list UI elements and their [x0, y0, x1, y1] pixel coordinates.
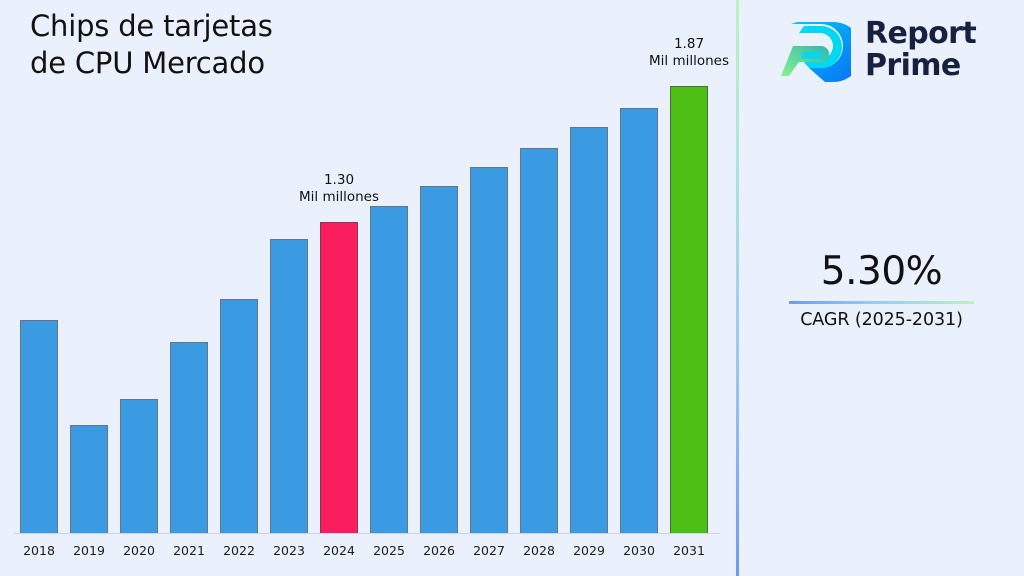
bar-group-2020[interactable]: 2020 [120, 43, 158, 533]
x-tick-label-2018: 2018 [20, 533, 58, 558]
bar-group-2028[interactable]: 2028 [520, 43, 558, 533]
x-tick-label-2029: 2029 [570, 533, 608, 558]
x-tick-label-2022: 2022 [220, 533, 258, 558]
bar-group-2025[interactable]: 2025 [370, 43, 408, 533]
bar-2031[interactable] [670, 86, 708, 533]
x-tick-label-2021: 2021 [170, 533, 208, 558]
cagr-label: CAGR (2025-2031) [739, 310, 1024, 330]
bar-chart-plot-area: 2018201920202021202220232024202520262027… [0, 0, 737, 576]
bar-2023[interactable] [270, 239, 308, 533]
bar-2025[interactable] [370, 206, 408, 533]
bar-group-2019[interactable]: 2019 [70, 43, 108, 533]
bar-2027[interactable] [470, 167, 508, 533]
cagr-block: 5.30% CAGR (2025-2031) [739, 252, 1024, 330]
bar-group-2026[interactable]: 2026 [420, 43, 458, 533]
bar-group-2023[interactable]: 2023 [270, 43, 308, 533]
data-label-2024: 1.30 Mil millones [264, 172, 414, 207]
infographic-root: Chips de tarjetas de CPU Mercado 2018201… [0, 0, 1024, 576]
x-tick-label-2025: 2025 [370, 533, 408, 558]
x-tick-label-2031: 2031 [670, 533, 708, 558]
bar-2028[interactable] [520, 148, 558, 533]
chart-panel: Chips de tarjetas de CPU Mercado 2018201… [0, 0, 737, 576]
bar-2026[interactable] [420, 186, 458, 533]
x-tick-label-2027: 2027 [470, 533, 508, 558]
bar-2024[interactable] [320, 222, 358, 533]
cagr-value: 5.30% [739, 252, 1024, 293]
bar-group-2018[interactable]: 2018 [20, 43, 58, 533]
bar-group-2027[interactable]: 2027 [470, 43, 508, 533]
bar-2022[interactable] [220, 299, 258, 533]
bar-group-2030[interactable]: 2030 [620, 43, 658, 533]
bar-2020[interactable] [120, 399, 158, 533]
bar-2021[interactable] [170, 342, 208, 533]
x-tick-label-2024: 2024 [320, 533, 358, 558]
brand-logo: Report Prime [779, 12, 976, 88]
brand-name: Report Prime [865, 18, 976, 83]
bar-2018[interactable] [20, 320, 58, 533]
brand-panel: Report Prime 5.30% CAGR (2025-2031) [739, 0, 1024, 576]
bar-group-2024[interactable]: 2024 [320, 43, 358, 533]
bar-group-2021[interactable]: 2021 [170, 43, 208, 533]
x-tick-label-2026: 2026 [420, 533, 458, 558]
bar-group-2029[interactable]: 2029 [570, 43, 608, 533]
bar-2030[interactable] [620, 108, 658, 533]
x-tick-label-2019: 2019 [70, 533, 108, 558]
x-tick-label-2020: 2020 [120, 533, 158, 558]
cagr-divider-rule [789, 301, 974, 304]
report-prime-r-monogram-icon [779, 12, 851, 88]
bar-group-2022[interactable]: 2022 [220, 43, 258, 533]
x-tick-label-2030: 2030 [620, 533, 658, 558]
bar-2029[interactable] [570, 127, 608, 533]
x-tick-label-2028: 2028 [520, 533, 558, 558]
bar-group-2031[interactable]: 2031 [670, 43, 708, 533]
x-tick-label-2023: 2023 [270, 533, 308, 558]
bar-2019[interactable] [70, 425, 108, 533]
